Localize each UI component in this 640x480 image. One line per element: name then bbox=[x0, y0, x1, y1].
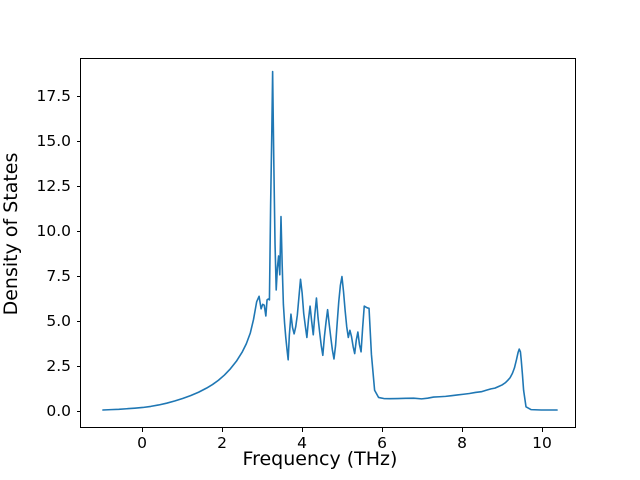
y-tick-mark bbox=[77, 186, 81, 187]
x-tick-mark bbox=[462, 428, 463, 432]
y-tick-label: 17.5 bbox=[0, 87, 71, 105]
x-tick-mark bbox=[542, 428, 543, 432]
x-tick-mark bbox=[382, 428, 383, 432]
x-axis-label: Frequency (THz) bbox=[0, 448, 640, 470]
y-tick-mark bbox=[77, 366, 81, 367]
y-tick-mark bbox=[77, 276, 81, 277]
figure-canvas: 0246810 0.02.55.07.510.012.515.017.5 Fre… bbox=[0, 0, 640, 480]
y-tick-mark bbox=[77, 321, 81, 322]
y-tick-mark bbox=[77, 411, 81, 412]
y-tick-label: 0.0 bbox=[0, 402, 71, 420]
y-axis-label: Density of States bbox=[0, 104, 22, 364]
y-tick-mark bbox=[77, 141, 81, 142]
x-tick-mark bbox=[142, 428, 143, 432]
y-tick-mark bbox=[77, 96, 81, 97]
plot-axes bbox=[80, 58, 576, 428]
dos-line-series bbox=[103, 72, 557, 410]
y-tick-mark bbox=[77, 231, 81, 232]
density-of-states-line-chart bbox=[81, 59, 575, 427]
x-tick-mark bbox=[222, 428, 223, 432]
x-tick-mark bbox=[302, 428, 303, 432]
